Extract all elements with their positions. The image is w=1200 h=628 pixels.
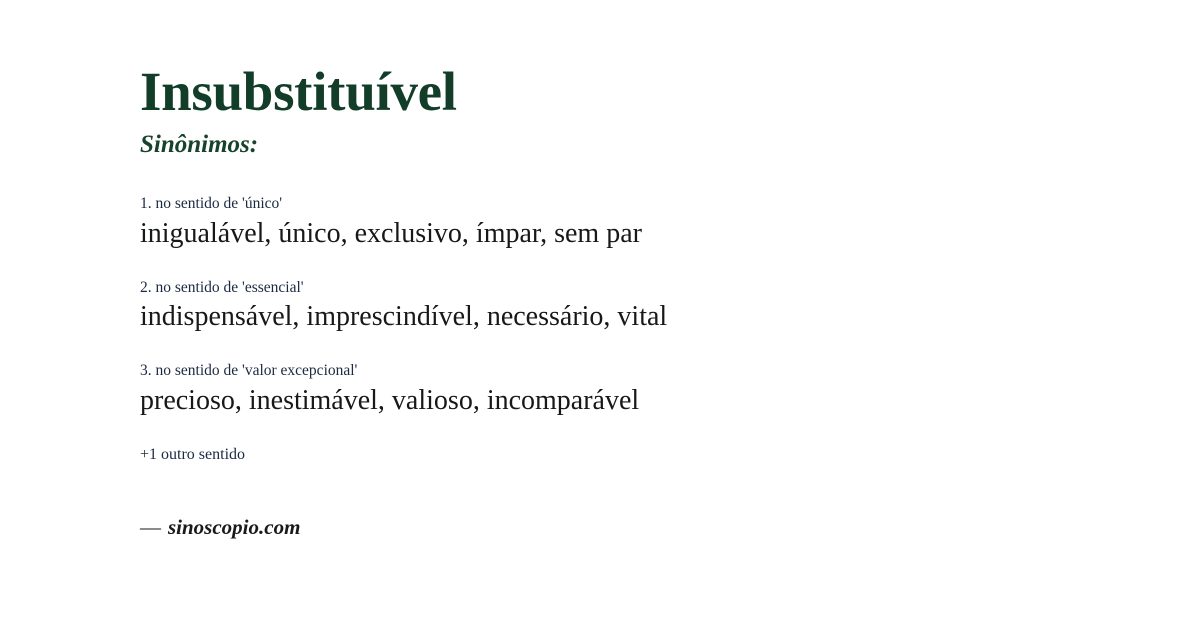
synonyms-heading: Sinônimos:	[140, 130, 1140, 160]
sense-synonyms-1: inigualável, único, exclusivo, ímpar, se…	[140, 217, 1140, 251]
synonym-card: Insubstituível Sinônimos: 1. no sentido …	[0, 0, 1200, 628]
attribution: —sinoscopio.com	[140, 514, 1140, 541]
sense-synonyms-2: indispensável, imprescindível, necessári…	[140, 300, 1140, 334]
sense-label-2: 2. no sentido de 'essencial'	[140, 278, 1140, 297]
sense-entry-1: 1. no sentido de 'único' inigualável, ún…	[140, 194, 1140, 251]
sense-entry-2: 2. no sentido de 'essencial' indispensáv…	[140, 278, 1140, 335]
more-senses-note: +1 outro sentido	[140, 445, 1140, 466]
sense-label-3: 3. no sentido de 'valor excepcional'	[140, 361, 1140, 380]
page-title: Insubstituível	[140, 62, 1140, 121]
em-dash-icon: —	[140, 515, 161, 539]
sense-list: 1. no sentido de 'único' inigualável, ún…	[140, 194, 1140, 418]
sense-label-1: 1. no sentido de 'único'	[140, 194, 1140, 213]
attribution-source: sinoscopio.com	[168, 515, 300, 539]
sense-synonyms-3: precioso, inestimável, valioso, incompar…	[140, 384, 1140, 418]
sense-entry-3: 3. no sentido de 'valor excepcional' pre…	[140, 361, 1140, 418]
